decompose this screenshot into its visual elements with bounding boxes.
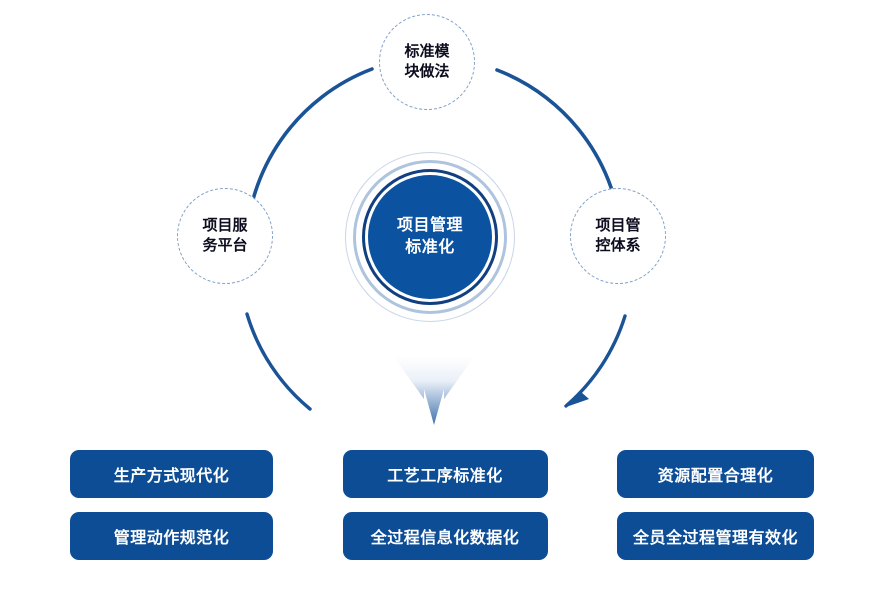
diagram-canvas: 项目管理 标准化 标准模 块做法 项目服 务平台 项目管 控体系 生产方式现代化…	[0, 0, 884, 590]
grid-row-gap	[548, 498, 618, 512]
node-left-project-service-platform[interactable]: 项目服 务平台	[177, 188, 273, 284]
node-top-label-line-2: 块做法	[404, 62, 449, 82]
arrow-down-icon	[392, 355, 476, 427]
node-top-label-line-1: 标准模	[404, 42, 449, 62]
outcome-button-information-digitization[interactable]: 全过程信息化数据化	[343, 512, 548, 560]
outcome-button-grid: 生产方式现代化 工艺工序标准化 资源配置合理化 管理动作规范化 全过程信息化数据…	[70, 450, 814, 560]
outcome-button-full-process-effectiveness[interactable]: 全员全过程管理有效化	[617, 512, 814, 560]
node-left-label-line-1: 项目服	[202, 216, 247, 236]
outcome-button-resource-allocation[interactable]: 资源配置合理化	[617, 450, 814, 498]
grid-row-gap	[617, 498, 814, 512]
hub-core-circle[interactable]: 项目管理 标准化	[368, 175, 492, 299]
node-right-project-control-system[interactable]: 项目管 控体系	[570, 188, 666, 284]
grid-gap	[548, 450, 618, 498]
grid-gap	[273, 512, 343, 560]
node-left-label-line-2: 务平台	[202, 236, 247, 256]
hub-label-line-2: 标准化	[397, 237, 463, 259]
node-left-label: 项目服 务平台	[202, 216, 247, 257]
grid-row-gap	[343, 498, 548, 512]
node-right-label: 项目管 控体系	[595, 216, 640, 257]
node-right-label-line-2: 控体系	[595, 236, 640, 256]
arc-right-to-bottom	[566, 316, 625, 406]
node-top-standard-module[interactable]: 标准模 块做法	[379, 14, 475, 110]
node-right-label-line-1: 项目管	[595, 216, 640, 236]
outcome-button-management-standardization[interactable]: 管理动作规范化	[70, 512, 273, 560]
node-top-label: 标准模 块做法	[404, 42, 449, 83]
grid-row-gap	[70, 498, 273, 512]
outcome-button-process-standardization[interactable]: 工艺工序标准化	[343, 450, 548, 498]
arc-arrowhead-icon	[566, 392, 589, 407]
outcome-button-production-modernization[interactable]: 生产方式现代化	[70, 450, 273, 498]
grid-row-gap	[273, 498, 343, 512]
hub-label-line-1: 项目管理	[397, 215, 463, 237]
arc-left-to-bottom	[247, 314, 310, 409]
grid-gap	[273, 450, 343, 498]
hub-label: 项目管理 标准化	[397, 215, 463, 258]
grid-gap	[548, 512, 618, 560]
hub-core-group[interactable]: 项目管理 标准化	[345, 152, 515, 322]
